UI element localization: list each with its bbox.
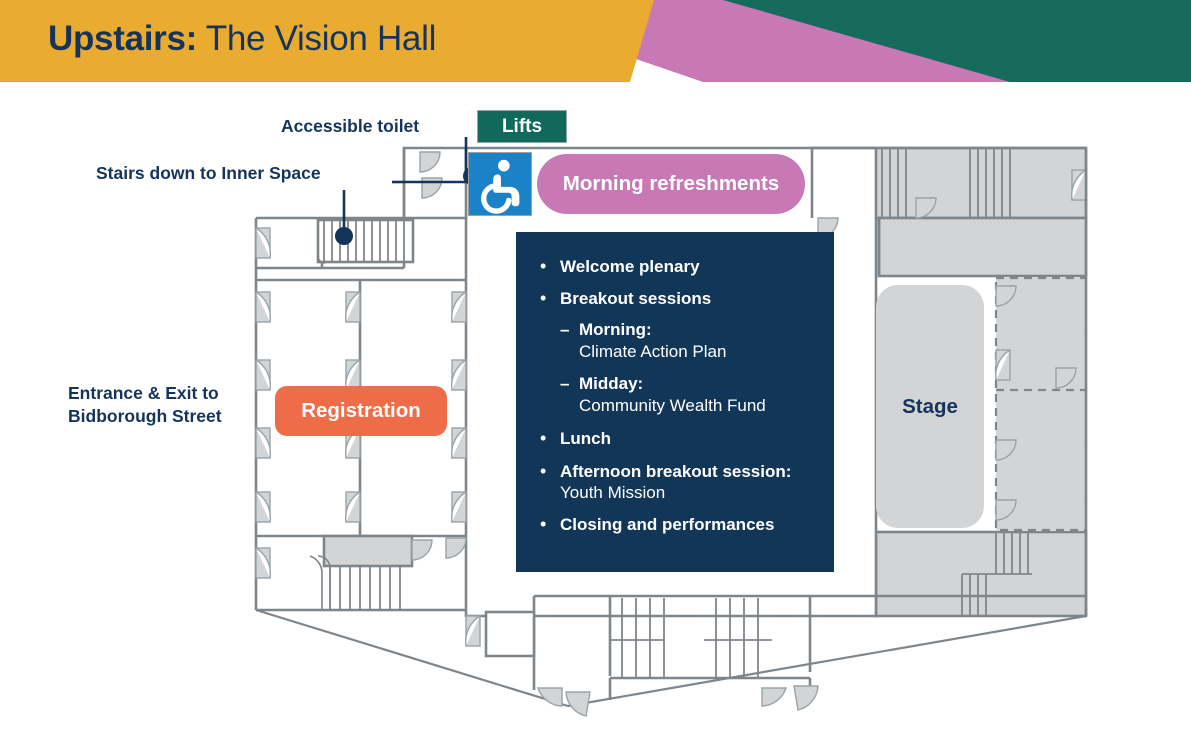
- badge-morning-refreshments[interactable]: Morning refreshments: [537, 154, 805, 214]
- programme-item-lead: Breakout sessions: [560, 289, 711, 308]
- door-icon: [412, 540, 432, 560]
- door-icon-entrance: [538, 686, 818, 716]
- programme-subitem-sub: Climate Action Plan: [579, 341, 818, 363]
- programme-subitem: Midday: Community Wealth Fund: [560, 373, 818, 417]
- programme-item-sub: Youth Mission: [560, 482, 818, 503]
- programme-item-lead: Lunch: [560, 429, 611, 448]
- door-icon: [446, 538, 466, 558]
- wheelchair-glyph: [469, 152, 531, 216]
- stage-area-label: Stage: [876, 285, 984, 528]
- programme-item-lead: Closing and performances: [560, 515, 774, 534]
- programme-panel: Welcome plenary Breakout sessions Mornin…: [516, 232, 834, 572]
- programme-item-lead: Welcome plenary: [560, 257, 700, 276]
- programme-item: Breakout sessions Morning: Climate Actio…: [538, 288, 818, 417]
- programme-list: Welcome plenary Breakout sessions Mornin…: [538, 256, 818, 536]
- callout-accessible-toilet: Accessible toilet: [281, 115, 419, 138]
- callout-entrance-exit-bidborough-street: Entrance & Exit to Bidborough Street: [68, 382, 268, 429]
- programme-subitem: Morning: Climate Action Plan: [560, 319, 818, 363]
- badge-lifts[interactable]: Lifts: [477, 110, 567, 143]
- callout-stairs-down-to-inner-space: Stairs down to Inner Space: [96, 162, 321, 185]
- programme-item: Afternoon breakout session: Youth Missio…: [538, 461, 818, 504]
- programme-item: Closing and performances: [538, 514, 818, 535]
- exterior-angled-walls: [256, 610, 1086, 706]
- programme-subitem-sub: Community Wealth Fund: [579, 395, 818, 417]
- programme-subitem-lead: Midday:: [579, 373, 818, 395]
- programme-item: Lunch: [538, 428, 818, 449]
- leader-dot-stairs-down: [335, 227, 353, 245]
- stair-bottom-left: [324, 536, 412, 566]
- wheelchair-accessible-icon: [468, 152, 532, 216]
- badge-registration[interactable]: Registration: [275, 386, 447, 436]
- programme-item: Welcome plenary: [538, 256, 818, 277]
- programme-subitem-lead: Morning:: [579, 319, 818, 341]
- room-block-dashed-right: [996, 278, 1086, 530]
- programme-item-lead: Afternoon breakout session:: [560, 462, 791, 481]
- programme-subgroup: Morning: Climate Action Plan Midday: Com…: [560, 319, 818, 417]
- door-icon: [466, 616, 480, 646]
